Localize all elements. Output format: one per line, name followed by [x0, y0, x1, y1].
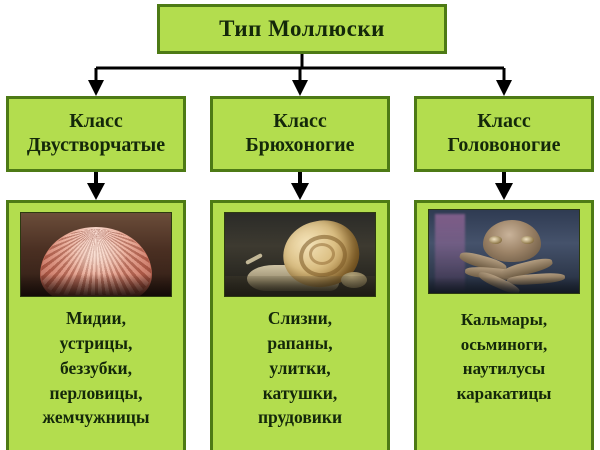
phylum-title-box: Тип Моллюски	[157, 4, 447, 54]
class-label-line-1: Класс	[477, 110, 530, 134]
list-item: рапаны,	[258, 331, 342, 356]
examples-box-gastropoda: Слизни, рапаны, улитки, катушки, прудови…	[210, 200, 390, 450]
page-title: Тип Моллюски	[219, 16, 385, 42]
list-item: жемчужницы	[42, 405, 149, 430]
examples-list-cephalopoda: Кальмары, осьминоги, наутилусы каракатиц…	[457, 308, 552, 407]
class-box-cephalopoda: Класс Головоногие	[414, 96, 594, 172]
list-item: осьминоги,	[457, 333, 552, 358]
octopus-photo	[428, 209, 580, 294]
photo-vignette	[429, 277, 579, 293]
list-item: Кальмары,	[457, 308, 552, 333]
list-item: устрицы,	[42, 331, 149, 356]
list-item: наутилусы	[457, 357, 552, 382]
octopus-eye-shape	[489, 236, 502, 244]
list-item: катушки,	[258, 381, 342, 406]
diagram-canvas: Тип Моллюски Класс Двустворчатые Класс Б…	[0, 0, 600, 450]
list-item: улитки,	[258, 356, 342, 381]
photo-vignette	[225, 276, 375, 296]
class-label-line-2: Двустворчатые	[27, 134, 165, 158]
examples-list-gastropoda: Слизни, рапаны, улитки, катушки, прудови…	[258, 306, 342, 430]
class-box-gastropoda: Класс Брюхоногие	[210, 96, 390, 172]
list-item: Слизни,	[258, 306, 342, 331]
class-label-line-2: Головоногие	[447, 134, 560, 158]
list-item: перловицы,	[42, 381, 149, 406]
examples-list-bivalvia: Мидии, устрицы, беззубки, перловицы, жем…	[42, 306, 149, 430]
octopus-eye-shape	[521, 236, 534, 244]
list-item: каракатицы	[457, 382, 552, 407]
list-item: беззубки,	[42, 356, 149, 381]
class-label-line-1: Класс	[69, 110, 122, 134]
snail-photo	[224, 212, 376, 297]
scallop-photo	[20, 212, 172, 297]
photo-vignette	[21, 274, 171, 296]
scallop-highlight-shape	[66, 239, 126, 279]
examples-box-bivalvia: Мидии, устрицы, беззубки, перловицы, жем…	[6, 200, 186, 450]
snail-tentacle-shape	[245, 253, 263, 265]
list-item: прудовики	[258, 405, 342, 430]
list-item: Мидии,	[42, 306, 149, 331]
class-label-line-2: Брюхоногие	[245, 134, 354, 158]
class-box-bivalvia: Класс Двустворчатые	[6, 96, 186, 172]
class-label-line-1: Класс	[273, 110, 326, 134]
examples-box-cephalopoda: Кальмары, осьминоги, наутилусы каракатиц…	[414, 200, 594, 450]
snail-spiral-inner-shape	[309, 243, 335, 265]
